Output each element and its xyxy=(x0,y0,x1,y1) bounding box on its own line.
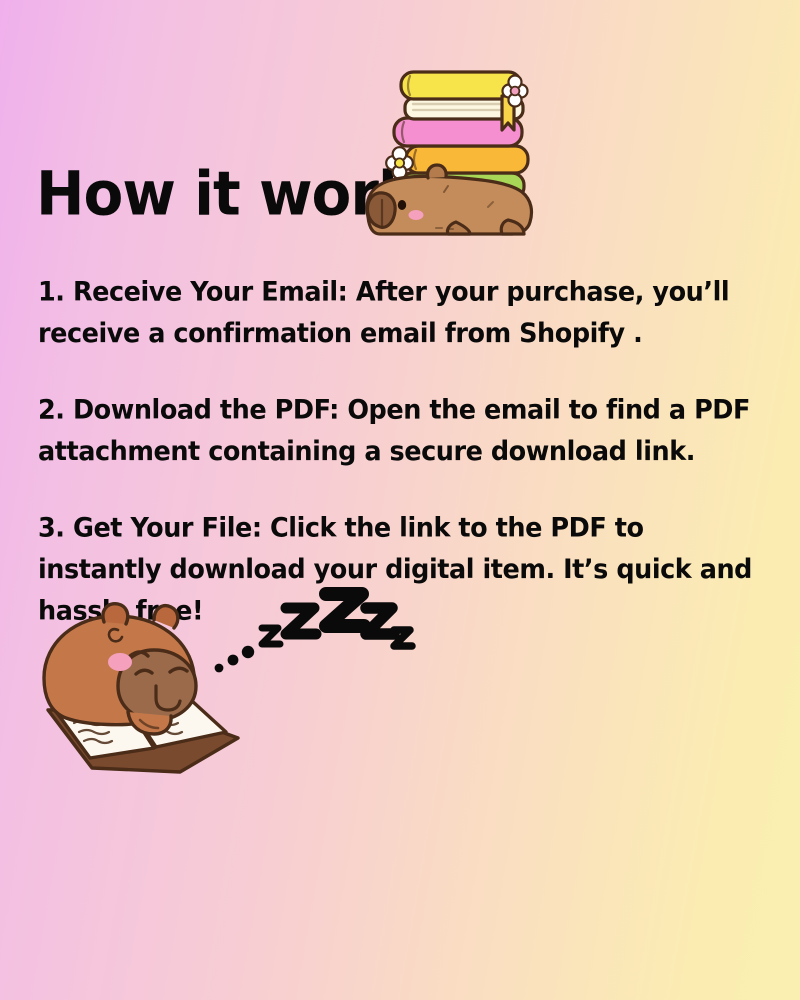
capybara-blush xyxy=(409,210,424,220)
sleep-sound-zzZZz xyxy=(262,594,412,646)
step-item-1: 1. Receive Your Email: After your purcha… xyxy=(38,272,764,355)
capybara-ear xyxy=(428,165,447,178)
capybara-sleep-blush xyxy=(108,653,132,671)
capybara-sleep-ear-left xyxy=(103,604,128,624)
step-item-2: 2. Download the PDF: Open the email to f… xyxy=(38,390,764,473)
capybara-carrying-book-stack-illustration xyxy=(352,52,548,242)
capybara-sleeping-on-open-book-illustration xyxy=(30,590,440,790)
capybara-eye xyxy=(398,200,406,210)
sleep-dots xyxy=(215,646,255,673)
book-orange xyxy=(406,146,528,173)
capybara-sleeping-body xyxy=(44,604,196,734)
poster-canvas: How it works xyxy=(0,0,800,1000)
